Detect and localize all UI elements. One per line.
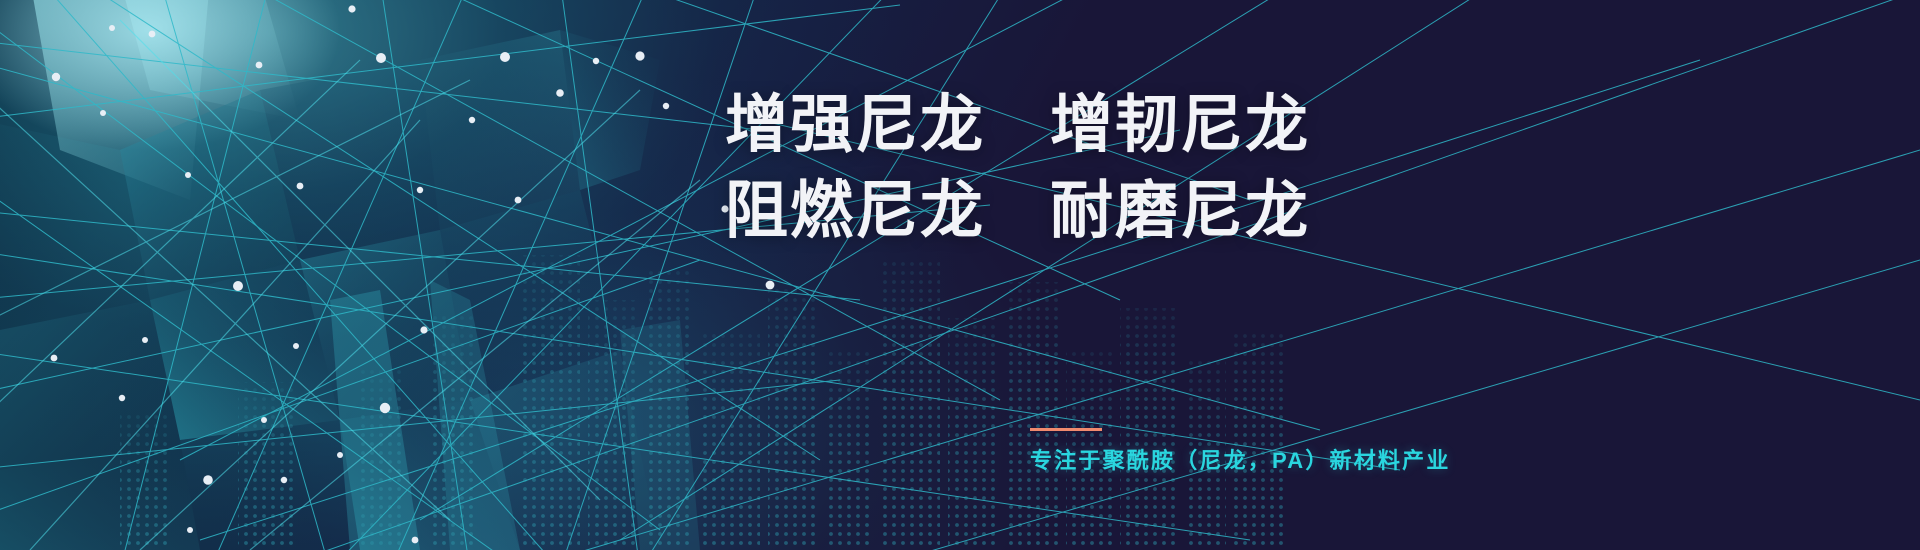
tagline-block: 专注于聚酰胺（尼龙，PA）新材料产业 (1030, 428, 1451, 475)
banner-content: 增强尼龙 增韧尼龙 阻燃尼龙 耐磨尼龙 专注于聚酰胺（尼龙，PA）新材料产业 (725, 0, 1825, 550)
headline-line-1: 增强尼龙 增韧尼龙 (725, 82, 1725, 168)
headline-line-2: 阻燃尼龙 耐磨尼龙 (725, 168, 1725, 254)
tagline-divider-rule (1030, 428, 1102, 431)
hero-banner: 增强尼龙 增韧尼龙 阻燃尼龙 耐磨尼龙 专注于聚酰胺（尼龙，PA）新材料产业 (0, 0, 1920, 550)
headline: 增强尼龙 增韧尼龙 阻燃尼龙 耐磨尼龙 (725, 82, 1725, 254)
tagline-text: 专注于聚酰胺（尼龙，PA）新材料产业 (1030, 447, 1451, 475)
